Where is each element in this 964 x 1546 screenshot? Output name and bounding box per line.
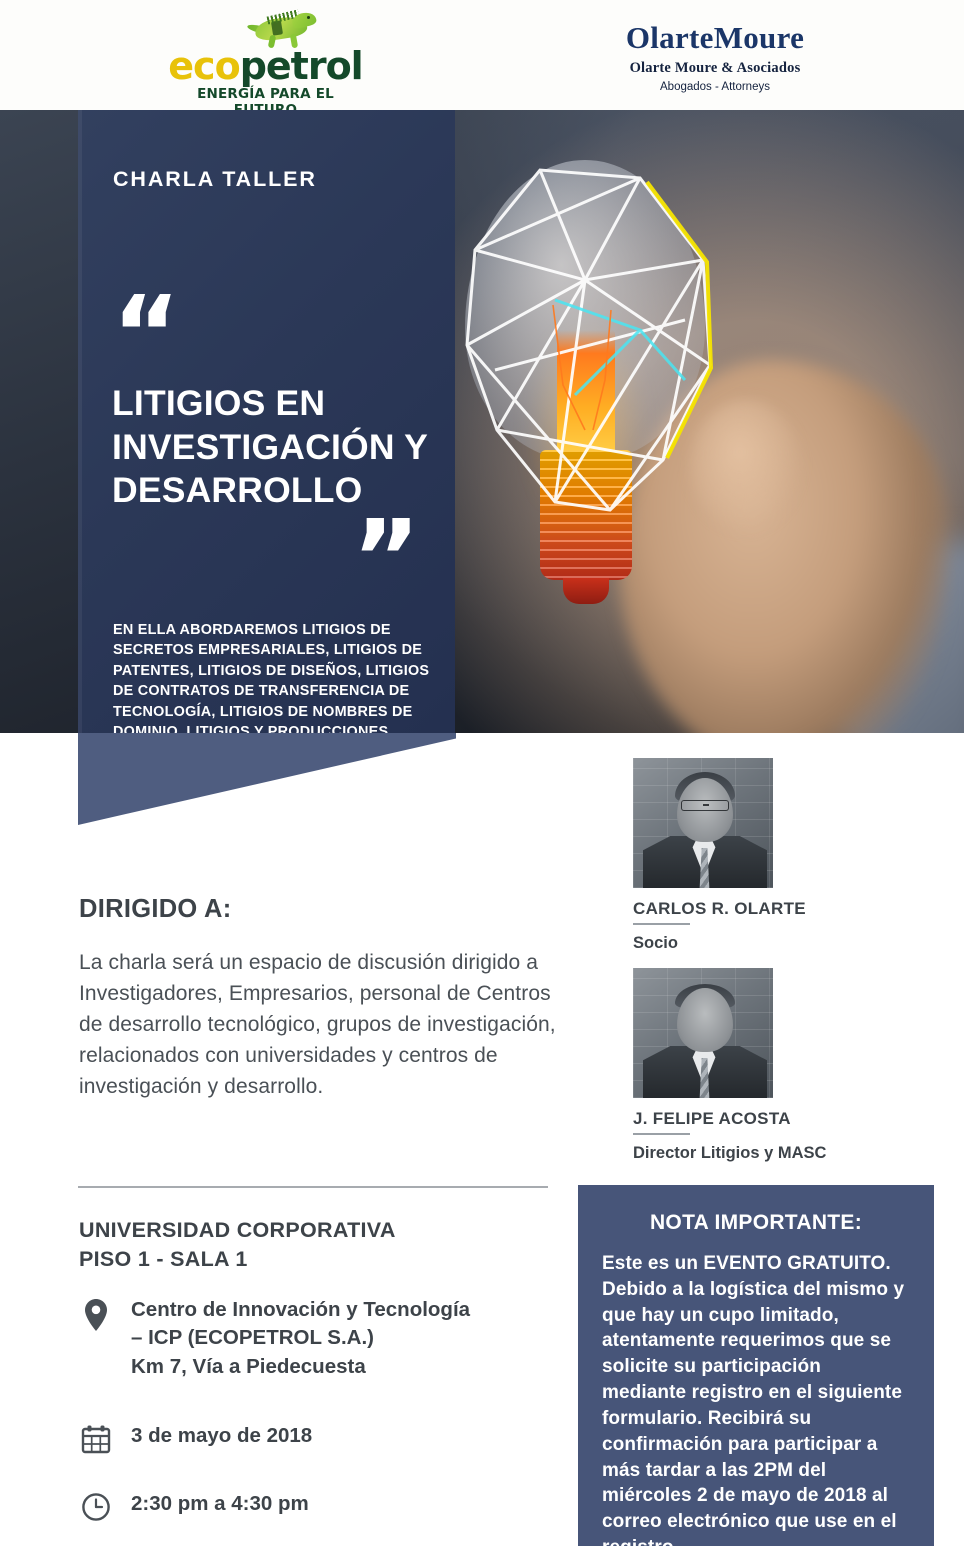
speaker-photo-2 xyxy=(633,968,773,1098)
speaker-name-2: J. FELIPE ACOSTA xyxy=(633,1109,826,1129)
olartemoure-wordmark: OlarteMoure xyxy=(570,22,860,55)
location-line-2: – ICP (ECOPETROL S.A.) xyxy=(131,1324,470,1352)
olartemoure-tagline: Abogados - Attorneys xyxy=(570,81,860,93)
ecopetrol-logo: ecopetrol ENERGÍA PARA EL FUTURO xyxy=(163,8,368,100)
calendar-icon xyxy=(79,1422,113,1454)
olartemoure-logo: OlarteMoure Olarte Moure & Asociados Abo… xyxy=(570,22,860,93)
ecopetrol-eco-text: eco xyxy=(168,44,239,88)
hero-title: LITIGIOS EN INVESTIGACIÓN Y DESARROLLO xyxy=(112,382,442,513)
speaker-name-1: CARLOS R. OLARTE xyxy=(633,899,806,919)
speaker-card-1: CARLOS R. OLARTE Socio xyxy=(633,758,806,953)
hero-description: EN ELLA ABORDAREMOS LITIGIOS DE SECRETOS… xyxy=(113,620,433,733)
venue-line-2: PISO 1 - SALA 1 xyxy=(79,1245,549,1274)
important-note-box: NOTA IMPORTANTE: Este es un EVENTO GRATU… xyxy=(578,1185,934,1546)
venue-title: UNIVERSIDAD CORPORATIVA PISO 1 - SALA 1 xyxy=(79,1216,549,1274)
decorative-angle-shape xyxy=(78,733,456,825)
note-body: Este es un EVENTO GRATUITO. Debido a la … xyxy=(602,1251,910,1546)
speaker-role-1: Socio xyxy=(633,934,806,953)
section-divider xyxy=(78,1186,548,1188)
map-pin-icon xyxy=(79,1296,113,1332)
speaker-card-2: J. FELIPE ACOSTA Director Litigios y MAS… xyxy=(633,968,826,1163)
clock-icon xyxy=(79,1490,113,1522)
venue-line-1: UNIVERSIDAD CORPORATIVA xyxy=(79,1216,549,1245)
location-row: Centro de Innovación y Tecnología – ICP … xyxy=(79,1296,559,1381)
olartemoure-moure-text: Moure xyxy=(714,20,804,55)
olartemoure-subtitle: Olarte Moure & Asociados xyxy=(570,60,860,77)
olartemoure-olarte-text: Olarte xyxy=(626,20,714,55)
wireframe-polygon-overlay xyxy=(435,130,745,710)
quote-close-icon: ” xyxy=(352,526,420,590)
time-row: 2:30 pm a 4:30 pm xyxy=(79,1490,509,1522)
header-bar: ecopetrol ENERGÍA PARA EL FUTURO OlarteM… xyxy=(0,0,964,110)
speaker-role-2: Director Litigios y MASC xyxy=(633,1144,826,1163)
lightbulb-image xyxy=(435,130,745,710)
hero-kicker: CHARLA TALLER xyxy=(113,167,317,192)
speaker-name-underline-2 xyxy=(633,1133,690,1135)
note-title: NOTA IMPORTANTE: xyxy=(602,1211,910,1235)
quote-open-icon: “ xyxy=(112,302,180,366)
audience-title: DIRIGIDO A: xyxy=(79,895,232,924)
time-text: 2:30 pm a 4:30 pm xyxy=(131,1490,309,1518)
location-line-3: Km 7, Vía a Piedecuesta xyxy=(131,1353,470,1381)
audience-description: La charla será un espacio de discusión d… xyxy=(79,947,559,1102)
glasses-icon xyxy=(681,800,729,811)
hero-banner: CHARLA TALLER “ LITIGIOS EN INVESTIGACIÓ… xyxy=(0,110,964,733)
speaker-photo-1 xyxy=(633,758,773,888)
location-line-1: Centro de Innovación y Tecnología xyxy=(131,1296,470,1324)
date-text: 3 de mayo de 2018 xyxy=(131,1422,312,1450)
speaker-name-underline-1 xyxy=(633,923,690,925)
location-text: Centro de Innovación y Tecnología – ICP … xyxy=(131,1296,470,1381)
ecopetrol-wordmark: ecopetrol xyxy=(163,44,368,88)
event-flyer: ecopetrol ENERGÍA PARA EL FUTURO OlarteM… xyxy=(0,0,964,1546)
date-row: 3 de mayo de 2018 xyxy=(79,1422,509,1454)
ecopetrol-petrol-text: petrol xyxy=(240,44,363,88)
